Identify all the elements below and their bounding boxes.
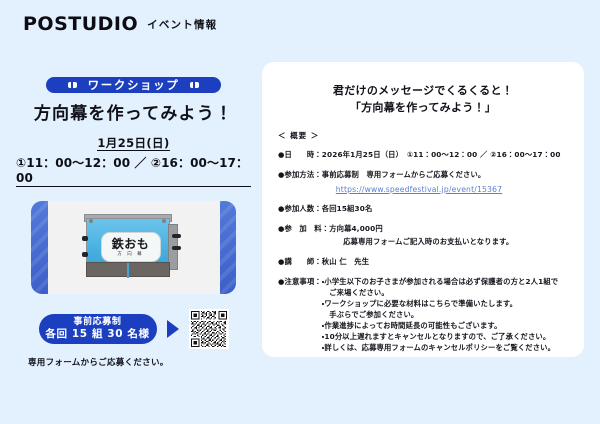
workshop-photo-card: 鉄おも 方 向 幕	[31, 201, 236, 294]
workshop-time: ①11：00～12：00 ／ ②16：00～17：00	[16, 156, 251, 187]
outline-heading: ＜ 概要 ＞	[278, 130, 568, 141]
detail-label: ●講 師：	[278, 257, 322, 268]
detail-value-subtext: 応募専用フォームご記入時のお支払いとなります。	[343, 237, 568, 248]
device-base	[86, 262, 170, 277]
note-item: ・詳しくは、応募専用フォームのキャンセルポリシーをご覧ください。	[322, 343, 568, 354]
event-title-line1: 君だけのメッセージでくるくると！	[278, 82, 568, 99]
qr-code-icon	[191, 311, 227, 347]
detail-value: 秋山 仁 先生	[322, 257, 568, 268]
device-display-main-text: 鉄おも	[112, 238, 150, 250]
apply-capacity-pill: 事前応募制 各回 15 組 30 名様	[39, 314, 157, 344]
detail-row-fee: ●参 加 料： 方向幕4,000円 応募専用フォームご記入時のお支払いとなります…	[278, 224, 568, 248]
detail-value: 2026年1月25日（日） ①11：00～12：00 ／ ②16：00～17：0…	[322, 150, 568, 161]
detail-value: 事前応募制 専用フォームからご応募ください。 https://www.speed…	[322, 170, 568, 195]
workshop-photo: 鉄おも 方 向 幕	[48, 201, 220, 294]
page-header: POSTUDIO イベント情報	[0, 0, 600, 48]
detail-row-notes: ●注意事項： ・小学生以下のお子さまが参加される場合は必ず保護者の方と2人1組で…	[278, 277, 568, 354]
note-item: ・10分以上遅れますとキャンセルとなりますので、ご了承ください。	[322, 332, 568, 343]
note-item: ・ワークショップに必要な材料はこちらで準備いたします。	[322, 299, 568, 310]
apply-note: 専用フォームからご応募ください。	[28, 356, 169, 368]
workshop-title: 方向幕を作ってみよう！	[34, 106, 233, 123]
detail-label: ●参加方法：	[278, 170, 322, 195]
detail-value-text: 方向幕4,000円	[329, 224, 383, 233]
destination-sign-device-illustration: 鉄おも 方 向 幕	[82, 214, 180, 280]
device-knob-icon	[172, 234, 181, 238]
poster-page: POSTUDIO イベント情報 ワークショップ 方向幕を作ってみよう！ 1月25…	[0, 0, 600, 424]
device-knob-icon	[82, 236, 88, 241]
detail-row-instructor: ●講 師： 秋山 仁 先生	[278, 257, 568, 268]
workshop-badge: ワークショップ	[46, 77, 221, 93]
device-knob-icon	[82, 252, 88, 257]
detail-value: 方向幕4,000円 応募専用フォームご記入時のお支払いとなります。	[329, 224, 568, 248]
application-form-link[interactable]: https://www.speedfestival.jp/event/15367	[336, 184, 568, 195]
note-item: ・小学生以下のお子さまが参加される場合は必ず保護者の方と2人1組で	[322, 277, 568, 288]
arrow-right-icon	[167, 320, 179, 338]
event-title: 君だけのメッセージでくるくると！ 「方向幕を作ってみよう！」	[278, 82, 568, 116]
workshop-summary-panel: ワークショップ 方向幕を作ってみよう！ 1月25日(日) ①11：00～12：0…	[16, 55, 251, 365]
note-item: ・作業進捗によってお時間延長の可能性もございます。	[322, 321, 568, 332]
detail-value: 各回15組30名	[322, 204, 568, 215]
detail-row-datetime: ●日 時： 2026年1月25日（日） ①11：00～12：00 ／ ②16：0…	[278, 150, 568, 161]
detail-label: ●注意事項：	[278, 277, 322, 354]
logo-wordmark: POSTUDIO	[22, 15, 138, 34]
detail-value: ・小学生以下のお子さまが参加される場合は必ず保護者の方と2人1組で ご来場くださ…	[322, 277, 568, 354]
workshop-date: 1月25日(日)	[97, 136, 169, 151]
notes-list: ・小学生以下のお子さまが参加される場合は必ず保護者の方と2人1組で ご来場くださ…	[322, 277, 568, 354]
device-display: 鉄おも 方 向 幕	[101, 232, 161, 262]
detail-value-text: 事前応募制 専用フォームからご応募ください。	[322, 170, 486, 179]
device-knob-icon	[172, 246, 181, 250]
event-title-line2: 「方向幕を作ってみよう！」	[278, 99, 568, 116]
event-details-panel: 君だけのメッセージでくるくると！ 「方向幕を作ってみよう！」 ＜ 概要 ＞ ●日…	[262, 62, 584, 357]
qr-code[interactable]	[189, 309, 229, 349]
event-detail-list: ●日 時： 2026年1月25日（日） ①11：00～12：00 ／ ②16：0…	[278, 150, 568, 354]
detail-row-howtojoin: ●参加方法： 事前応募制 専用フォームからご応募ください。 https://ww…	[278, 170, 568, 195]
detail-label: ●参 加 料：	[278, 224, 329, 248]
apply-pill-line2: 各回 15 組 30 名様	[45, 328, 149, 341]
apply-pill-line1: 事前応募制	[73, 317, 121, 328]
ribbon-deco-right-icon	[190, 82, 199, 88]
ribbon-deco-left-icon	[68, 82, 77, 88]
note-item: ご来場ください。	[322, 288, 568, 299]
apply-row: 事前応募制 各回 15 組 30 名様	[16, 309, 251, 349]
brand-logo: POSTUDIO イベント情報	[22, 15, 217, 34]
detail-row-capacity: ●参加人数： 各回15組30名	[278, 204, 568, 215]
device-bolt-icon	[162, 219, 166, 223]
workshop-badge-label: ワークショップ	[88, 77, 180, 93]
detail-label: ●日 時：	[278, 150, 322, 161]
detail-label: ●参加人数：	[278, 204, 322, 215]
device-display-sub-text: 方 向 幕	[117, 253, 143, 258]
logo-subtitle: イベント情報	[147, 17, 217, 31]
device-bolt-icon	[89, 219, 93, 223]
note-item: 手ぶらでご参加ください。	[322, 310, 568, 321]
